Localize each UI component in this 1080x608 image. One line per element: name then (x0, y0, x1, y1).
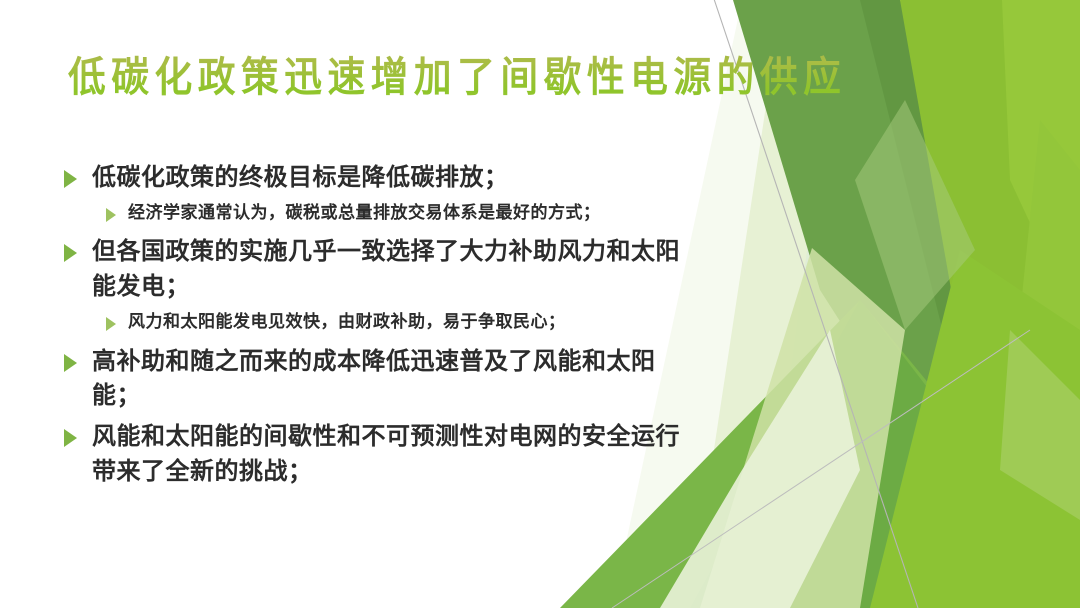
list-item: 经济学家通常认为，碳税或总量排放交易体系是最好的方式； (106, 201, 704, 226)
decor-shape-pale-overlay-a (700, 248, 905, 608)
list-item: 高补助和随之而来的成本降低迅速普及了风能和太阳能； (64, 344, 704, 414)
decor-shape-pale-overlay-c (1000, 330, 1080, 520)
bullet-text: 高补助和随之而来的成本降低迅速普及了风能和太阳能； (92, 344, 704, 414)
decor-shape-lime-band (1002, 0, 1080, 330)
decor-shape-pale-overlay-b (855, 100, 975, 330)
list-item: 低碳化政策的终极目标是降低碳排放； (64, 160, 704, 195)
list-item: 风力和太阳能发电见效快，由财政补助，易于争取民心； (106, 310, 704, 335)
bullet-list: 低碳化政策的终极目标是降低碳排放； 经济学家通常认为，碳税或总量排放交易体系是最… (64, 160, 704, 495)
triangle-right-icon (64, 244, 77, 262)
decor-shape-lime-right (990, 120, 1080, 608)
decor-shape-lime-lower-right (870, 250, 1080, 608)
bullet-text: 经济学家通常认为，碳税或总量排放交易体系是最好的方式； (128, 201, 601, 226)
decor-shape-leaf-lower-dark (690, 300, 960, 608)
triangle-right-icon (106, 208, 116, 222)
bullet-text: 低碳化政策的终极目标是降低碳排放； (92, 160, 509, 195)
page-title: 低碳化政策迅速增加了间歇性电源的供应 (68, 52, 896, 103)
presentation-slide: 低碳化政策迅速增加了间歇性电源的供应 低碳化政策的终极目标是降低碳排放； 经济学… (0, 0, 1080, 608)
triangle-right-icon (106, 317, 116, 331)
triangle-right-icon (64, 170, 77, 188)
bullet-text: 风能和太阳能的间歇性和不可预测性对电网的安全运行带来了全新的挑战； (92, 419, 704, 489)
bullet-text: 但各国政策的实施几乎一致选择了大力补助风力和太阳能发电； (92, 234, 704, 304)
decor-shape-bright-band (900, 0, 1080, 608)
list-item: 风能和太阳能的间歇性和不可预测性对电网的安全运行带来了全新的挑战； (64, 419, 704, 489)
list-item: 但各国政策的实施几乎一致选择了大力补助风力和太阳能发电； (64, 234, 704, 304)
bullet-text: 风力和太阳能发电见效快，由财政补助，易于争取民心； (128, 310, 566, 335)
triangle-right-icon (64, 429, 77, 447)
triangle-right-icon (64, 354, 77, 372)
